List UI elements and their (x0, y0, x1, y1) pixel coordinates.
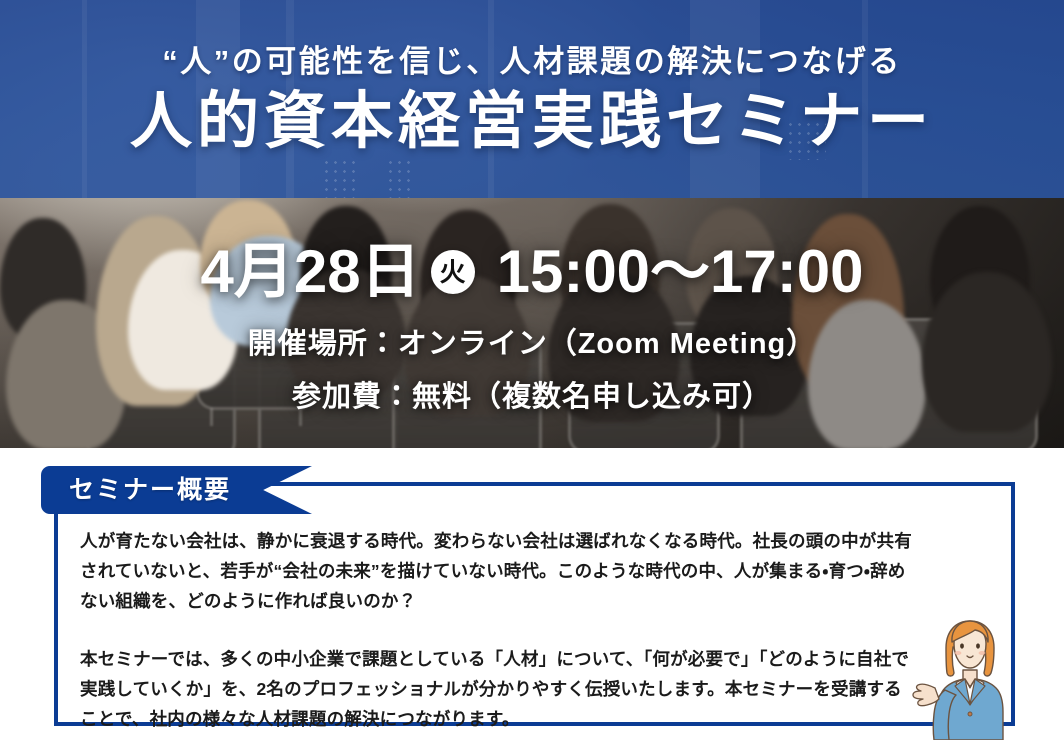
overview-ribbon: セミナー概要 (41, 466, 312, 514)
overview-paragraph: 人が育たない会社は、静かに衰退する時代。変わらない会社は選ばれなくなる時代。社長… (80, 526, 916, 616)
event-time: 15:00〜17:00 (497, 242, 864, 302)
businesswoman-presenting-illustration (905, 612, 1033, 740)
ribbon-label: セミナー概要 (69, 466, 231, 514)
event-info: 4月28日 火 15:00〜17:00 開催場所：オンライン（Zoom Meet… (0, 242, 1064, 412)
day-of-week-badge: 火 (431, 250, 475, 294)
headline-kicker: “人”の可能性を信じ、人材課題の解決につなげる (162, 46, 902, 77)
seminar-overview-panel: 人が育たない会社は、静かに衰退する時代。変わらない会社は選ばれなくなる時代。社長… (54, 482, 1015, 726)
page-title: 人的資本経営実践セミナー (130, 91, 934, 153)
headline-group: “人”の可能性を信じ、人材課題の解決につなげる 人的資本経営実践セミナー (0, 0, 1064, 198)
overview-text-block: 人が育たない会社は、静かに衰退する時代。変わらない会社は選ばれなくなる時代。社長… (80, 526, 916, 734)
overview-paragraph: 本セミナーでは、多くの中小企業で課題としている「人材」について、「何が必要で」「… (80, 644, 916, 734)
event-venue: 開催場所：オンライン（Zoom Meeting） (248, 330, 817, 359)
event-fee: 参加費：無料（複数名申し込み可） (292, 383, 772, 412)
event-datetime-row: 4月28日 火 15:00〜17:00 (200, 242, 863, 302)
seminar-poster: “人”の可能性を信じ、人材課題の解決につなげる 人的資本経営実践セミナー 4月2… (0, 0, 1064, 740)
event-date: 4月28日 (200, 242, 420, 302)
